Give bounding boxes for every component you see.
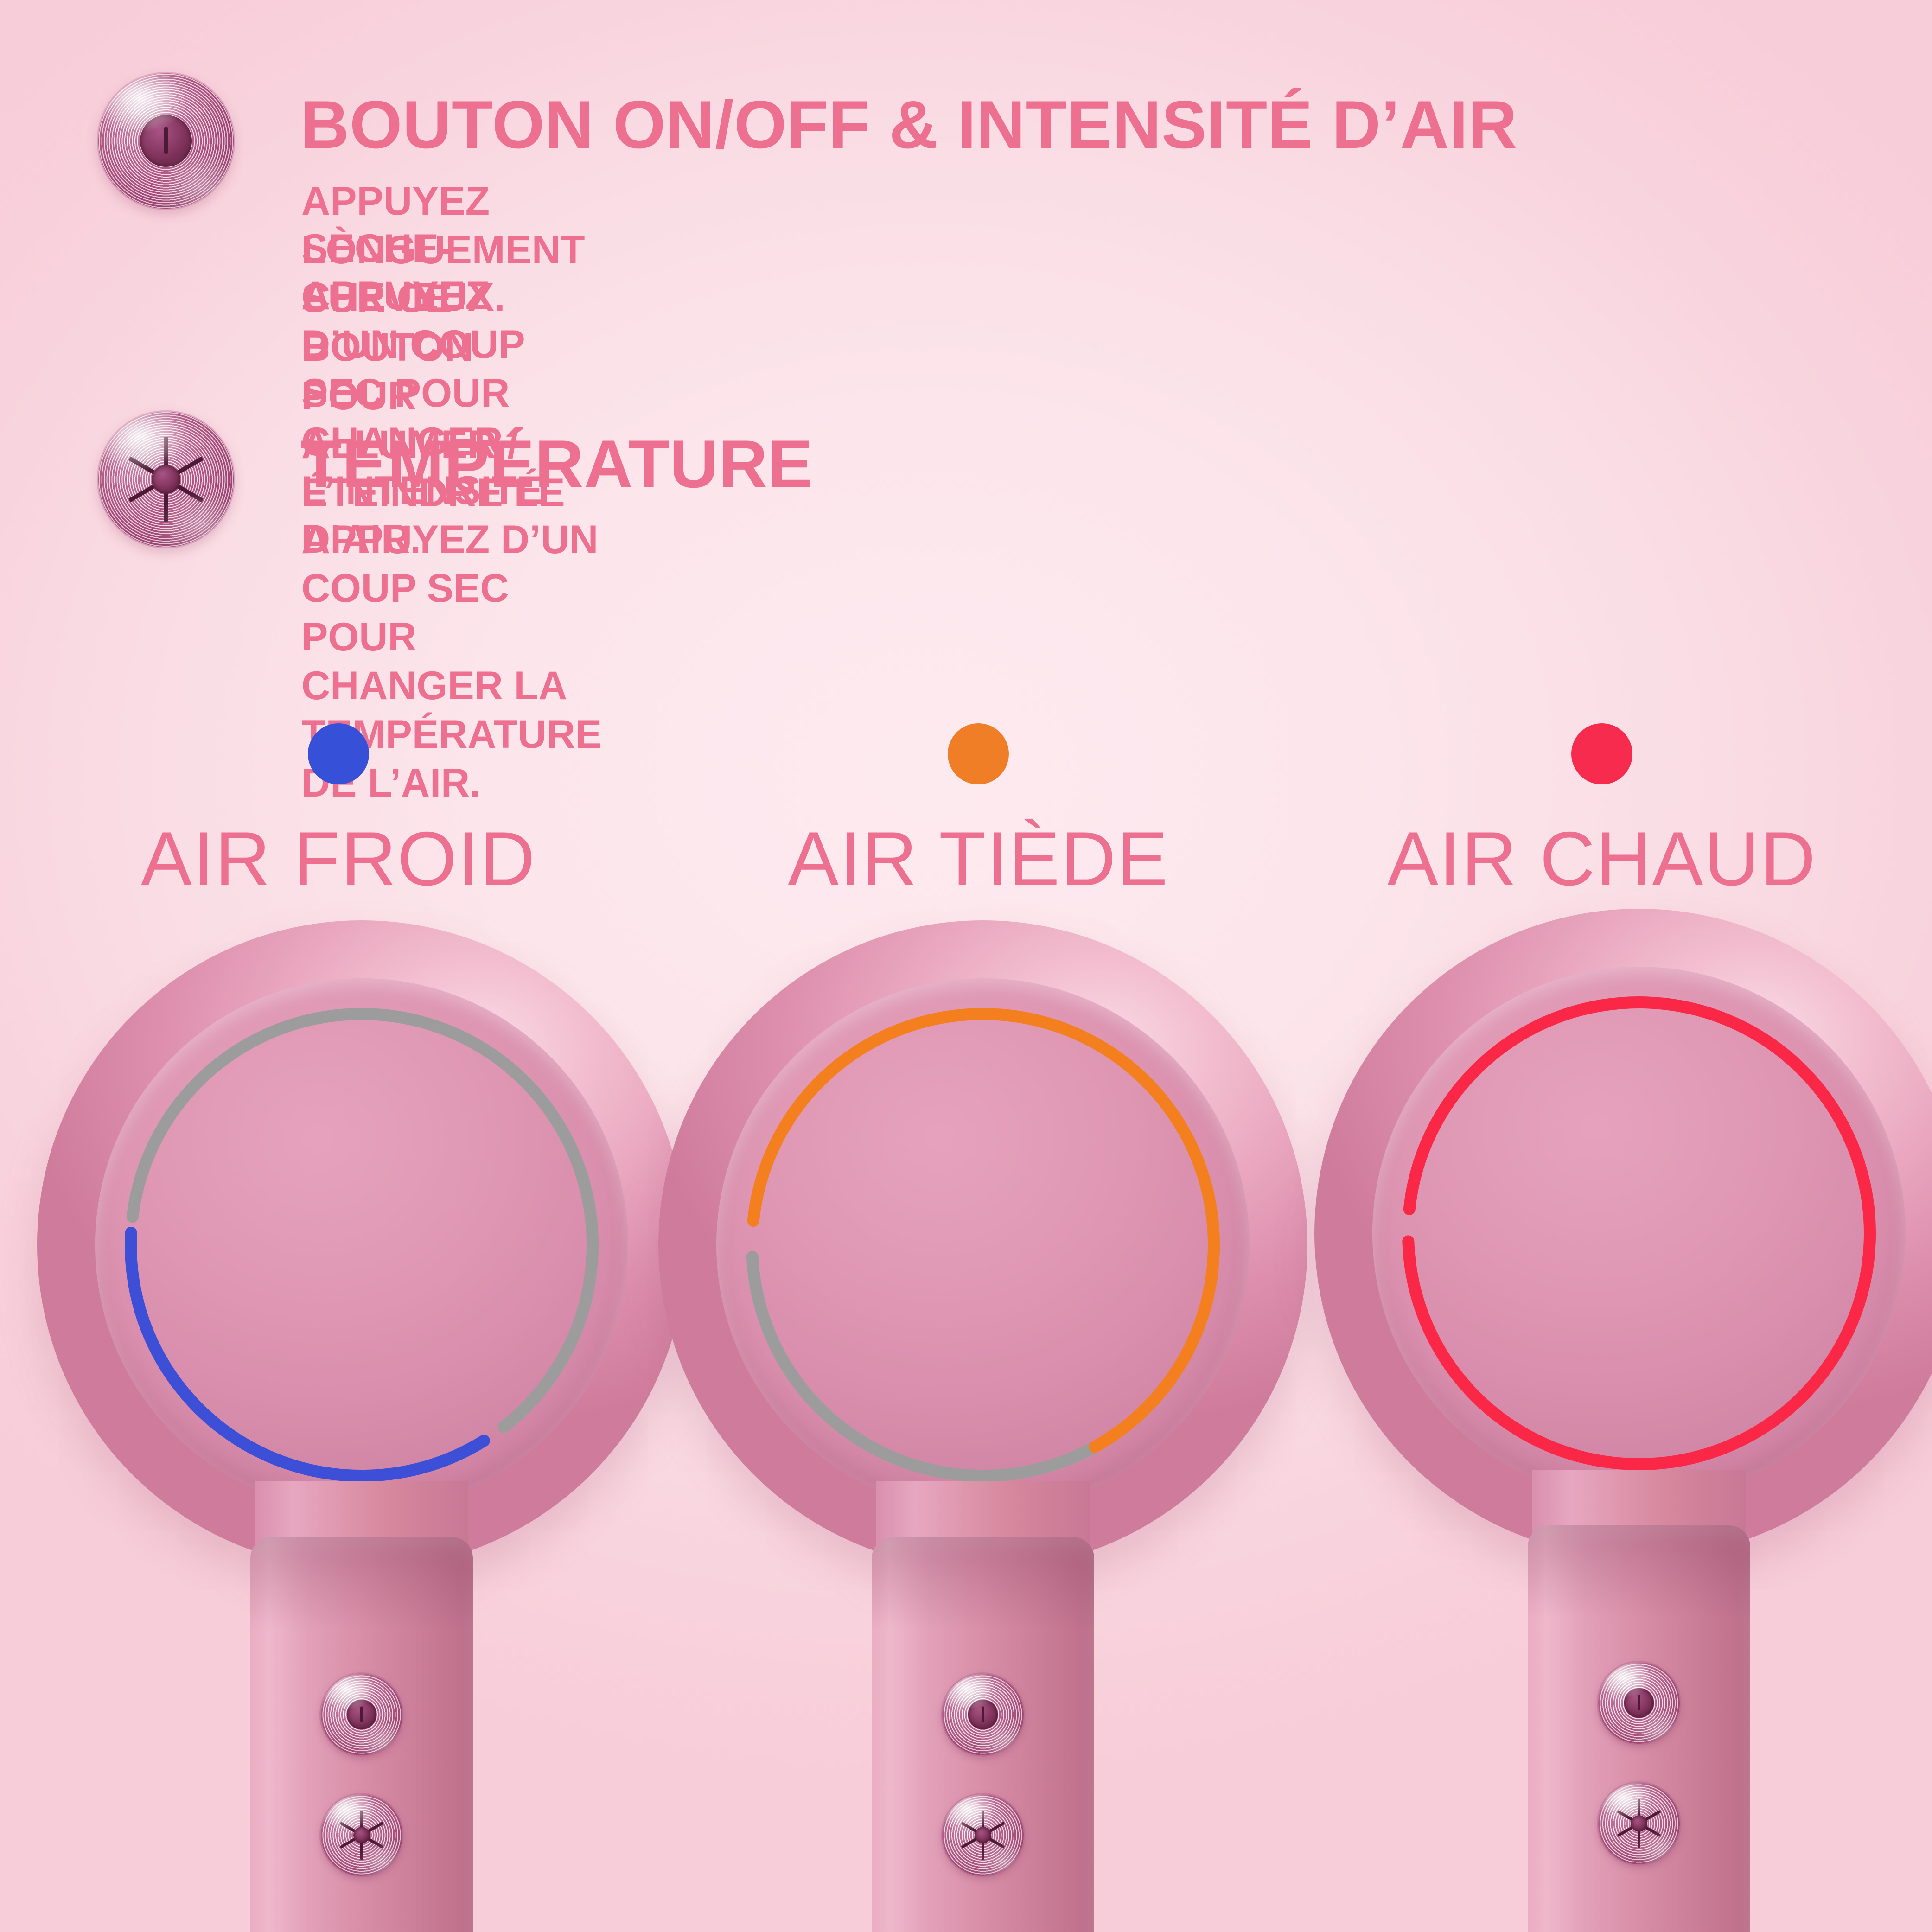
mode-warm-color-dot (948, 723, 1009, 784)
hair-dryer-hot (1314, 909, 1932, 1932)
infographic-canvas: BOUTON ON/OFF & INTENSITÉ D’AIR APPUYEZ … (0, 0, 1932, 1932)
metal-sheen (98, 73, 234, 209)
mode-cold-label: AIR FROID (30, 821, 647, 897)
mode-warm-label: AIR TIÈDE (670, 821, 1287, 897)
metal-sheen (942, 1674, 1024, 1755)
power-button-icon (98, 73, 234, 209)
mode-hot-label: AIR CHAUD (1294, 821, 1910, 897)
mode-cold-color-dot (308, 723, 369, 784)
hair-dryer-warm (658, 920, 1307, 1932)
mode-warm: AIR TIÈDE (670, 723, 1287, 897)
handle-temperature-button[interactable] (321, 1794, 402, 1876)
handle-power-button[interactable] (942, 1674, 1024, 1755)
metal-sheen (321, 1794, 402, 1876)
dryer-handle-shadow (872, 1537, 1094, 1630)
handle-power-button[interactable] (321, 1674, 402, 1755)
handle-power-button[interactable] (1598, 1662, 1680, 1744)
hair-dryer-cold (37, 920, 686, 1932)
metal-sheen (1598, 1662, 1680, 1744)
handle-temperature-button[interactable] (942, 1794, 1024, 1876)
metal-sheen (1598, 1783, 1680, 1864)
mode-hot-color-dot (1571, 723, 1632, 784)
metal-sheen (942, 1794, 1024, 1876)
led-ring-hot (1314, 909, 1932, 1558)
metal-sheen (98, 412, 234, 547)
dryer-handle-shadow (1528, 1525, 1750, 1618)
metal-sheen (321, 1674, 402, 1755)
led-ring-cold (37, 920, 686, 1569)
handle-temperature-button[interactable] (1598, 1783, 1680, 1864)
feature-power-title: BOUTON ON/OFF & INTENSITÉ D’AIR (300, 91, 1518, 159)
feature-temperature-title: TEMPÉRATURE (300, 430, 813, 498)
mode-hot: AIR CHAUD (1294, 723, 1910, 897)
led-ring-warm (658, 920, 1307, 1569)
mode-cold: AIR FROID (30, 723, 647, 897)
dryer-handle-shadow (250, 1537, 473, 1630)
temperature-sunburst-icon (98, 412, 234, 547)
